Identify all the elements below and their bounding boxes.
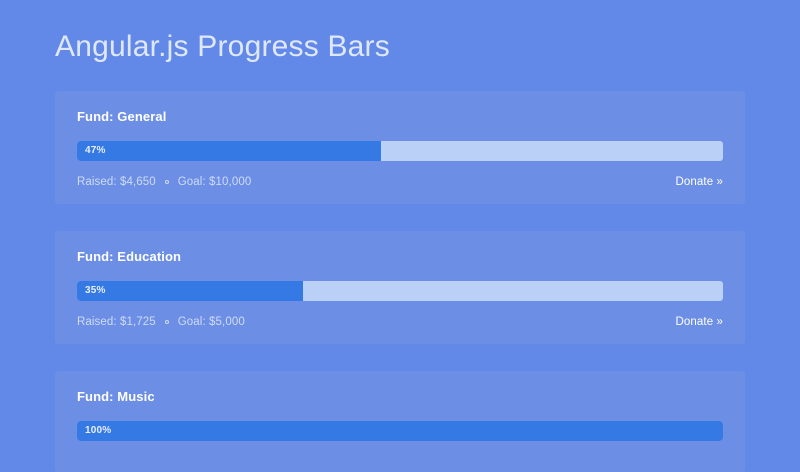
progress-bar-education[interactable]: 35% [77,281,723,301]
progress-bar-general[interactable]: 47% [77,141,723,161]
page-title: Angular.js Progress Bars [55,0,745,67]
fund-meta: Raised: $1,725 Goal: $5,000 [77,316,245,328]
progress-percent-label: 47% [85,141,106,161]
fund-card-music: Fund: Music 100% [55,371,745,472]
progress-percent-label: 100% [85,421,111,441]
fund-card-title: Fund: General [77,109,723,125]
progress-bar-music[interactable]: 100% [77,421,723,441]
progress-percent-label: 35% [85,281,106,301]
donate-link[interactable]: Donate » [676,176,723,188]
progress-bar-fill [77,141,381,161]
fund-card-list: Fund: General 47% Raised: $4,650 Goal: $… [55,91,745,472]
progress-bar-fill [77,421,723,441]
circle-separator-icon [165,180,169,184]
fund-card-title: Fund: Music [77,389,723,405]
fund-meta: Raised: $4,650 Goal: $10,000 [77,176,251,188]
fund-card-title: Fund: Education [77,249,723,265]
raised-amount-label: Raised: $1,725 [77,316,156,328]
fund-card-footer: Raised: $1,725 Goal: $5,000 Donate » [77,316,723,328]
goal-amount-label: Goal: $5,000 [178,316,245,328]
raised-amount-label: Raised: $4,650 [77,176,156,188]
fund-card-education: Fund: Education 35% Raised: $1,725 Goal:… [55,231,745,344]
progress-bar-fill [77,281,303,301]
circle-separator-icon [165,320,169,324]
page-root: Angular.js Progress Bars Fund: General 4… [0,0,800,450]
goal-amount-label: Goal: $10,000 [178,176,252,188]
fund-card-footer: Raised: $4,650 Goal: $10,000 Donate » [77,176,723,188]
fund-card-general: Fund: General 47% Raised: $4,650 Goal: $… [55,91,745,204]
donate-link[interactable]: Donate » [676,316,723,328]
